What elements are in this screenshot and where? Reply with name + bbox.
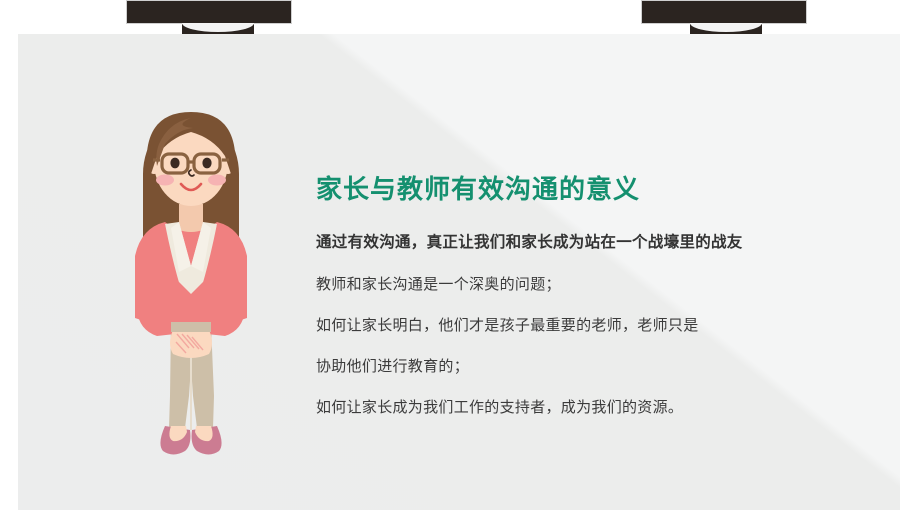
text-block: 家长与教师有效沟通的意义 通过有效沟通，真正让我们和家长成为站在一个战壕里的战友… (316, 172, 876, 419)
cheek-left (156, 175, 174, 186)
waistband (171, 322, 211, 332)
lead-paragraph: 通过有效沟通，真正让我们和家长成为站在一个战壕里的战友 (316, 232, 876, 254)
body-line-1: 教师和家长沟通是一个深奥的问题； (316, 274, 876, 296)
cheek-right (208, 175, 226, 186)
eye-right (202, 158, 211, 169)
female-teacher-character (113, 96, 269, 456)
page-title: 家长与教师有效沟通的意义 (316, 172, 876, 206)
board-plank-right (641, 0, 807, 24)
content-panel: 家长与教师有效沟通的意义 通过有效沟通，真正让我们和家长成为站在一个战壕里的战友… (18, 34, 900, 510)
body-line-2: 如何让家长明白，他们才是孩子最重要的老师，老师只是 (316, 315, 876, 337)
body-line-3: 协助他们进行教育的； (316, 356, 876, 378)
slide-canvas: 家长与教师有效沟通的意义 通过有效沟通，真正让我们和家长成为站在一个战壕里的战友… (0, 0, 920, 518)
pants-seam (190, 346, 192, 430)
board-plank-left (126, 0, 292, 24)
eye-left (170, 158, 179, 169)
body-line-4: 如何让家长成为我们工作的支持者，成为我们的资源。 (316, 397, 876, 419)
neck (179, 204, 203, 234)
teacher-illustration-svg (113, 96, 269, 456)
